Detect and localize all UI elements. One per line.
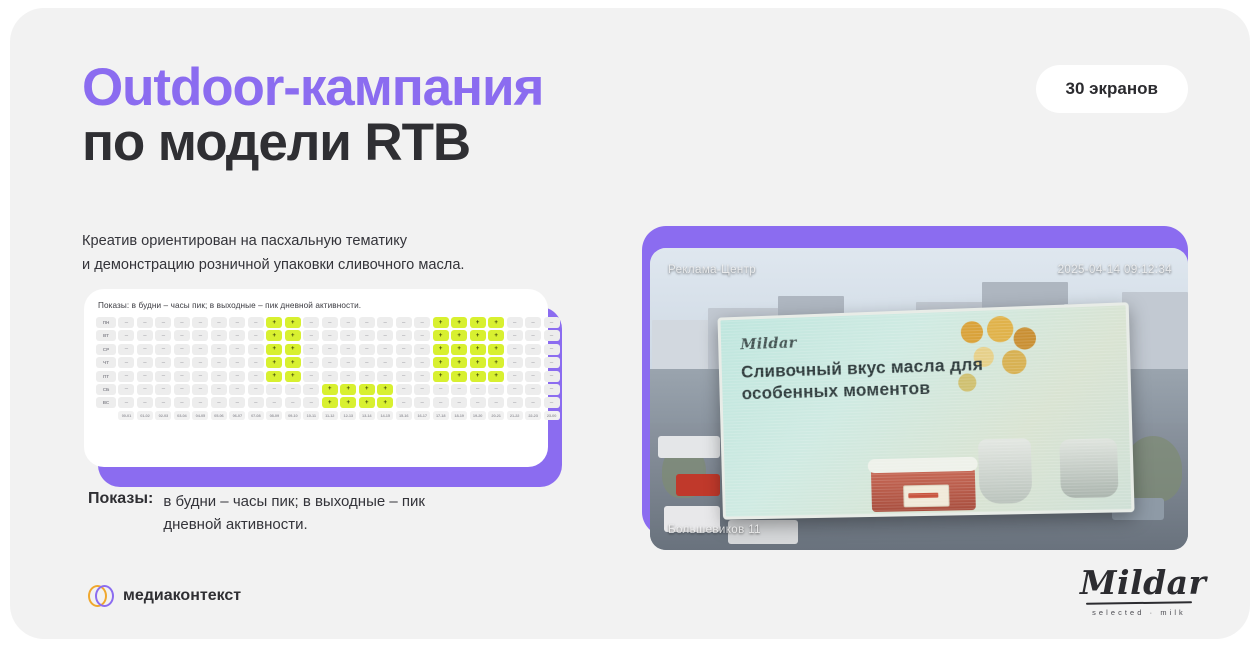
heatmap-cell: + bbox=[340, 384, 356, 395]
heatmap-hour-label: 03-04 bbox=[174, 411, 190, 420]
heatmap-cell: – bbox=[525, 371, 541, 382]
heatmap-cell: – bbox=[192, 397, 208, 408]
heatmap-hour-label: 11-12 bbox=[322, 411, 338, 420]
heatmap-cell: – bbox=[155, 330, 171, 341]
heatmap-cell: – bbox=[396, 384, 412, 395]
heatmap-cell: + bbox=[266, 357, 282, 368]
heatmap-cell: – bbox=[137, 371, 153, 382]
heatmap-cell: – bbox=[303, 371, 319, 382]
heatmap-cell: – bbox=[248, 397, 264, 408]
heatmap-cell: – bbox=[525, 317, 541, 328]
heatmap-row: ПТ––––––––++–––––––++++––– bbox=[96, 371, 536, 382]
heatmap-cell: – bbox=[137, 397, 153, 408]
heatmap-cell: – bbox=[174, 344, 190, 355]
heatmap-hour-label: 14-15 bbox=[377, 411, 393, 420]
heatmap-grid: ПН––––––––++–––––––++++–––ВТ––––––––++––… bbox=[96, 317, 536, 408]
heatmap-hour-label: 15-16 bbox=[396, 411, 412, 420]
heatmap-cell: + bbox=[266, 344, 282, 355]
heatmap-cell: – bbox=[377, 317, 393, 328]
heatmap-row: ПН––––––––++–––––––++++––– bbox=[96, 317, 536, 328]
page-title-accent: Outdoor-кампания bbox=[82, 60, 543, 115]
heatmap-cell: – bbox=[155, 397, 171, 408]
heatmap-cell: – bbox=[137, 330, 153, 341]
heatmap-cell: – bbox=[155, 371, 171, 382]
heatmap-cell: – bbox=[377, 371, 393, 382]
heatmap-cell: – bbox=[192, 317, 208, 328]
heatmap-cell: – bbox=[377, 357, 393, 368]
heatmap-cell: – bbox=[414, 384, 430, 395]
heatmap-cell: + bbox=[451, 357, 467, 368]
heatmap-cell: – bbox=[174, 397, 190, 408]
heatmap-cell: – bbox=[507, 330, 523, 341]
billboard-brand-logo: Mildar bbox=[740, 333, 797, 353]
heatmap-cell: – bbox=[396, 330, 412, 341]
heatmap-cell: + bbox=[451, 344, 467, 355]
billboard-jug bbox=[1059, 438, 1118, 498]
heatmap-cell: – bbox=[155, 317, 171, 328]
heatmap-hour-label: 06-07 bbox=[229, 411, 245, 420]
heatmap-hour-label: 23-00 bbox=[544, 411, 560, 420]
heatmap-cell: – bbox=[507, 344, 523, 355]
heatmap-cell: + bbox=[488, 317, 504, 328]
heatmap-cell: – bbox=[211, 317, 227, 328]
heatmap-cell: + bbox=[340, 397, 356, 408]
heatmap-cell: – bbox=[507, 384, 523, 395]
heatmap-cell: – bbox=[340, 344, 356, 355]
heatmap-day-label: ПН bbox=[96, 317, 116, 328]
brand-logo-tagline: selected · milk bbox=[1080, 608, 1198, 617]
heatmap-cell: – bbox=[229, 344, 245, 355]
heatmap-cell: + bbox=[359, 384, 375, 395]
heatmap-day-label: СБ bbox=[96, 384, 116, 395]
heatmap-cell: – bbox=[451, 397, 467, 408]
heatmap-cell: – bbox=[211, 344, 227, 355]
lead-paragraph: Креатив ориентирован на пасхальную темат… bbox=[82, 230, 552, 277]
heatmap-cell: – bbox=[211, 330, 227, 341]
heatmap-cell: + bbox=[433, 330, 449, 341]
heatmap-cell: – bbox=[396, 371, 412, 382]
heatmap-cell: – bbox=[359, 371, 375, 382]
heatmap-cell: – bbox=[174, 357, 190, 368]
heatmap-cell: – bbox=[155, 344, 171, 355]
heatmap-cell: – bbox=[303, 357, 319, 368]
heatmap-cell: – bbox=[229, 397, 245, 408]
billboard-butter-pack bbox=[903, 484, 950, 507]
heatmap-cell: – bbox=[359, 330, 375, 341]
heatmap-cell: – bbox=[544, 330, 560, 341]
photo-overlay-timestamp: 2025-04-14 09:12:34 bbox=[1058, 264, 1172, 276]
heatmap-cell: – bbox=[414, 397, 430, 408]
heatmap-cell: – bbox=[248, 357, 264, 368]
heatmap-cell: + bbox=[285, 317, 301, 328]
heatmap-cell: – bbox=[507, 317, 523, 328]
billboard-photo: Mildar Сливочный вкус масла для особенны… bbox=[650, 248, 1188, 550]
heatmap-cell: – bbox=[211, 397, 227, 408]
agency-logo-label: медиаконтекст bbox=[123, 587, 241, 605]
heatmap-cell: – bbox=[396, 317, 412, 328]
heatmap-day-label: ВТ bbox=[96, 330, 116, 341]
heatmap-cell: – bbox=[118, 317, 134, 328]
heatmap-cell: – bbox=[414, 357, 430, 368]
heatmap-cell: – bbox=[155, 384, 171, 395]
heatmap-hour-label: 19-20 bbox=[470, 411, 486, 420]
heatmap-hour-label: 22-23 bbox=[525, 411, 541, 420]
heatmap-cell: – bbox=[433, 397, 449, 408]
photo-overlay-camera: Реклама-Центр bbox=[668, 264, 756, 276]
heatmap-row: ВС–––––––––––++++––––––––– bbox=[96, 397, 536, 408]
heatmap-cell: – bbox=[155, 357, 171, 368]
heatmap-hour-label: 10-11 bbox=[303, 411, 319, 420]
heatmap-cell: – bbox=[118, 371, 134, 382]
heatmap-cell: – bbox=[174, 384, 190, 395]
heatmap-cell: + bbox=[470, 344, 486, 355]
heatmap-row: ЧТ––––––––++–––––––++++––– bbox=[96, 357, 536, 368]
photo-car bbox=[676, 474, 720, 496]
heatmap-cell: – bbox=[507, 397, 523, 408]
heatmap-cell: – bbox=[544, 357, 560, 368]
heatmap-cell: – bbox=[174, 371, 190, 382]
heatmap-cell: – bbox=[192, 384, 208, 395]
heatmap-cell: + bbox=[433, 317, 449, 328]
heatmap-cell: – bbox=[414, 371, 430, 382]
heatmap-cell: – bbox=[414, 317, 430, 328]
heatmap-cell: – bbox=[229, 330, 245, 341]
billboard-screen: Mildar Сливочный вкус масла для особенны… bbox=[718, 302, 1135, 520]
heatmap-cell: + bbox=[266, 330, 282, 341]
heatmap-hour-label: 05-06 bbox=[211, 411, 227, 420]
heatmap-cell: + bbox=[488, 371, 504, 382]
heatmap-hour-label: 01-02 bbox=[137, 411, 153, 420]
heatmap-cell: + bbox=[488, 357, 504, 368]
heatmap-cell: – bbox=[544, 344, 560, 355]
heatmap-cell: – bbox=[118, 357, 134, 368]
showings-caption: Показы: в будни – часы пик; в выходные –… bbox=[88, 490, 443, 537]
agency-logo: медиаконтекст bbox=[88, 585, 241, 607]
lead-line-1: Креатив ориентирован на пасхальную темат… bbox=[82, 233, 407, 249]
brand-logo-underline bbox=[1086, 601, 1192, 604]
rings-icon bbox=[88, 585, 114, 607]
lead-line-2: и демонстрацию розничной упаковки сливоч… bbox=[82, 257, 465, 273]
heatmap-hour-label: 18-19 bbox=[451, 411, 467, 420]
brand-logo-name: Mildar bbox=[1080, 566, 1198, 599]
heatmap-cell: – bbox=[322, 371, 338, 382]
heatmap-hour-label: 16-17 bbox=[414, 411, 430, 420]
heatmap-cell: – bbox=[211, 371, 227, 382]
heatmap-row: ВТ––––––––++–––––––++++––– bbox=[96, 330, 536, 341]
heatmap-cell: – bbox=[396, 344, 412, 355]
heatmap-cell: – bbox=[118, 397, 134, 408]
heatmap-cell: – bbox=[192, 344, 208, 355]
heatmap-cell: – bbox=[507, 357, 523, 368]
heatmap-cell: – bbox=[396, 357, 412, 368]
heatmap-cell: + bbox=[470, 371, 486, 382]
heatmap-cell: – bbox=[488, 384, 504, 395]
heatmap-cell: – bbox=[303, 397, 319, 408]
heatmap-cell: + bbox=[285, 330, 301, 341]
heatmap-cell: + bbox=[488, 344, 504, 355]
billboard-flower bbox=[961, 321, 984, 344]
heatmap-cell: – bbox=[211, 357, 227, 368]
photo-car bbox=[658, 436, 720, 458]
heatmap-cell: – bbox=[433, 384, 449, 395]
heatmap-cell: – bbox=[266, 397, 282, 408]
heatmap-cell: – bbox=[488, 397, 504, 408]
heatmap-cell: – bbox=[525, 344, 541, 355]
heatmap-card: Показы: в будни – часы пик; в выходные –… bbox=[84, 289, 548, 467]
heatmap-cell: – bbox=[525, 330, 541, 341]
heatmap-cell: + bbox=[377, 397, 393, 408]
heatmap-cell: + bbox=[488, 330, 504, 341]
heatmap-cell: – bbox=[359, 357, 375, 368]
heatmap-cell: – bbox=[285, 397, 301, 408]
heatmap-cell: – bbox=[303, 344, 319, 355]
heatmap-hour-label: 07-08 bbox=[248, 411, 264, 420]
heatmap-hour-label: 02-03 bbox=[155, 411, 171, 420]
heatmap-day-label: ВС bbox=[96, 397, 116, 408]
heatmap-cell: + bbox=[266, 317, 282, 328]
heatmap-cell: + bbox=[433, 357, 449, 368]
heatmap-hour-label: 17-18 bbox=[433, 411, 449, 420]
heatmap-day-label: СР bbox=[96, 344, 116, 355]
slide-canvas: Outdoor-кампания по модели RTB 30 экрано… bbox=[10, 8, 1250, 639]
photo-overlay-location: Большевиков 11 bbox=[668, 524, 761, 536]
heatmap-cell: – bbox=[229, 357, 245, 368]
heatmap-cell: + bbox=[377, 384, 393, 395]
billboard-headline: Сливочный вкус масла для особенных момен… bbox=[741, 353, 989, 405]
heatmap-hour-label: 08-09 bbox=[266, 411, 282, 420]
heatmap-cell: – bbox=[266, 384, 282, 395]
heatmap-cell: + bbox=[470, 357, 486, 368]
heatmap-title: Показы: в будни – часы пик; в выходные –… bbox=[98, 301, 536, 310]
heatmap-cell: – bbox=[414, 330, 430, 341]
billboard-flower bbox=[1013, 327, 1036, 350]
heatmap-cell: – bbox=[118, 344, 134, 355]
screens-count-badge: 30 экранов bbox=[1036, 65, 1188, 113]
heatmap-hour-label: 20-21 bbox=[488, 411, 504, 420]
billboard-flower bbox=[1002, 349, 1027, 374]
heatmap-hour-label: 04-05 bbox=[192, 411, 208, 420]
heatmap-cell: – bbox=[414, 344, 430, 355]
heatmap-cell: – bbox=[451, 384, 467, 395]
heatmap-cell: – bbox=[248, 371, 264, 382]
heatmap-cell: + bbox=[285, 371, 301, 382]
heatmap-cell: – bbox=[192, 371, 208, 382]
heatmap-cell: – bbox=[544, 371, 560, 382]
heatmap-cell: – bbox=[377, 330, 393, 341]
billboard-flower bbox=[987, 316, 1014, 343]
heatmap-cell: – bbox=[525, 357, 541, 368]
heatmap-cell: – bbox=[118, 384, 134, 395]
heatmap-row: СБ–––––––––––++++––––––––– bbox=[96, 384, 536, 395]
heatmap-cell: – bbox=[285, 384, 301, 395]
heatmap-cell: + bbox=[470, 317, 486, 328]
heatmap-cell: – bbox=[137, 317, 153, 328]
heatmap-cell: – bbox=[248, 384, 264, 395]
heatmap-cell: – bbox=[340, 330, 356, 341]
heatmap-cell: + bbox=[451, 317, 467, 328]
heatmap-cell: – bbox=[340, 357, 356, 368]
heatmap-cell: – bbox=[544, 384, 560, 395]
heatmap-cell: – bbox=[359, 344, 375, 355]
heatmap-cell: – bbox=[340, 317, 356, 328]
heatmap-cell: – bbox=[137, 344, 153, 355]
heatmap-hour-label: 21-22 bbox=[507, 411, 523, 420]
heatmap-cell: + bbox=[266, 371, 282, 382]
heatmap-cell: – bbox=[470, 397, 486, 408]
heatmap-cell: – bbox=[118, 330, 134, 341]
heatmap-cell: – bbox=[322, 357, 338, 368]
heatmap-cell: + bbox=[433, 371, 449, 382]
page-title-plain: по модели RTB bbox=[82, 115, 543, 170]
heatmap-day-label: ПТ bbox=[96, 371, 116, 382]
heatmap-cell: – bbox=[248, 317, 264, 328]
page-title: Outdoor-кампания по модели RTB bbox=[82, 60, 543, 170]
heatmap-cell: – bbox=[192, 330, 208, 341]
billboard-vase bbox=[978, 438, 1033, 504]
heatmap-cell: – bbox=[137, 384, 153, 395]
heatmap-cell: + bbox=[433, 344, 449, 355]
heatmap-cell: – bbox=[174, 317, 190, 328]
heatmap-cell: – bbox=[303, 384, 319, 395]
showings-caption-value: в будни – часы пик; в выходные – пик дне… bbox=[163, 490, 443, 537]
heatmap-cell: – bbox=[396, 397, 412, 408]
heatmap-cell: – bbox=[525, 384, 541, 395]
heatmap-cell: + bbox=[322, 384, 338, 395]
heatmap-cell: + bbox=[285, 357, 301, 368]
heatmap-cell: – bbox=[322, 330, 338, 341]
heatmap-cell: – bbox=[303, 317, 319, 328]
heatmap-cell: – bbox=[507, 371, 523, 382]
photo-card-wrapper: Mildar Сливочный вкус масла для особенны… bbox=[642, 226, 1188, 536]
heatmap-cell: – bbox=[322, 317, 338, 328]
heatmap-cell: – bbox=[229, 371, 245, 382]
heatmap-cell: – bbox=[192, 357, 208, 368]
heatmap-cell: – bbox=[340, 371, 356, 382]
heatmap-cell: – bbox=[525, 397, 541, 408]
heatmap-cell: – bbox=[544, 397, 560, 408]
heatmap-card-wrapper: Показы: в будни – часы пик; в выходные –… bbox=[72, 289, 572, 489]
heatmap-cell: + bbox=[359, 397, 375, 408]
heatmap-hour-label: 00-01 bbox=[118, 411, 134, 420]
heatmap-cell: + bbox=[470, 330, 486, 341]
heatmap-cell: – bbox=[248, 344, 264, 355]
heatmap-cell: – bbox=[137, 357, 153, 368]
heatmap-cell: + bbox=[285, 344, 301, 355]
heatmap-cell: + bbox=[322, 397, 338, 408]
heatmap-day-label: ЧТ bbox=[96, 357, 116, 368]
heatmap-hour-label: 09-10 bbox=[285, 411, 301, 420]
heatmap-hour-axis: 00-0101-0202-0303-0404-0505-0606-0707-08… bbox=[96, 411, 536, 420]
heatmap-cell: – bbox=[174, 330, 190, 341]
heatmap-cell: – bbox=[248, 330, 264, 341]
heatmap-hour-label: 13-14 bbox=[359, 411, 375, 420]
heatmap-cell: – bbox=[229, 317, 245, 328]
heatmap-cell: – bbox=[229, 384, 245, 395]
brand-logo: Mildar selected · milk bbox=[1080, 566, 1198, 617]
heatmap-cell: – bbox=[211, 384, 227, 395]
showings-caption-key: Показы: bbox=[88, 490, 153, 537]
heatmap-cell: + bbox=[451, 371, 467, 382]
heatmap-cell: – bbox=[470, 384, 486, 395]
heatmap-cell: – bbox=[303, 330, 319, 341]
heatmap-cell: – bbox=[322, 344, 338, 355]
heatmap-hour-label: 12-13 bbox=[340, 411, 356, 420]
heatmap-cell: – bbox=[377, 344, 393, 355]
heatmap-cell: – bbox=[359, 317, 375, 328]
heatmap-cell: – bbox=[544, 317, 560, 328]
heatmap-row: СР––––––––++–––––––++++––– bbox=[96, 344, 536, 355]
heatmap-cell: + bbox=[451, 330, 467, 341]
